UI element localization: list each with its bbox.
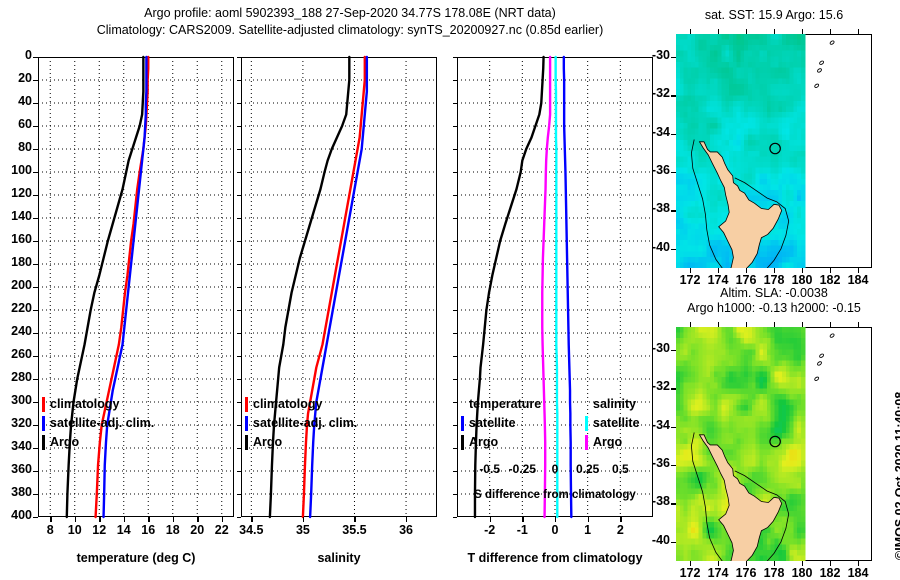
map-x-tick: [858, 268, 859, 273]
map-x-tick-label: 178: [749, 566, 799, 580]
y-tick-label: 300: [0, 393, 32, 407]
x-tick-label: 12: [69, 523, 129, 537]
map-x-tick: [830, 268, 831, 273]
map-x-tick: [690, 268, 691, 273]
x-tick-label: 8: [20, 523, 80, 537]
map-x-tick-label: 180: [777, 273, 827, 287]
map-x-tick-label: 174: [693, 273, 743, 287]
x-tick-label: 36: [376, 523, 436, 537]
salinity-profile-lines: [241, 57, 437, 517]
offshore-islet: [817, 361, 822, 366]
map-x-tick-label: 182: [805, 566, 855, 580]
y-tick-label: 320: [0, 416, 32, 430]
x-tick-label: -1: [492, 523, 552, 537]
x-tick: [173, 517, 174, 522]
series-temperature-satellite: [564, 57, 572, 517]
map-x-tick-label: 182: [805, 273, 855, 287]
x-tick-label: 10: [45, 523, 105, 537]
map-x-tick-label: 176: [721, 273, 771, 287]
map-x-tick: [802, 561, 803, 566]
x-tick: [124, 517, 125, 522]
y-tick-label: 140: [0, 209, 32, 223]
offshore-islet: [829, 40, 834, 45]
series-satellite-adj-clim-: [310, 57, 367, 517]
altim-sla-label: Altim. SLA: -0.0038: [676, 286, 872, 300]
y-tick-label: 280: [0, 370, 32, 384]
page-title-line2: Climatology: CARS2009. Satellite-adjuste…: [0, 23, 700, 37]
x-tick: [50, 517, 51, 522]
sst-map-title: sat. SST: 15.9 Argo: 15.6: [676, 8, 872, 22]
offshore-islet: [819, 353, 824, 358]
map-x-tick: [774, 561, 775, 566]
x-tick: [99, 517, 100, 522]
y-tick-label: 260: [0, 347, 32, 361]
imos-credit: ©IMOS 02-Oct-2020 11:40:08: [893, 392, 900, 560]
y-tick-label: 360: [0, 462, 32, 476]
x-tick-label: -2: [460, 523, 520, 537]
series-salinity-argo: [542, 57, 550, 517]
map-x-tick-label: 178: [749, 273, 799, 287]
y-tick-label: 120: [0, 186, 32, 200]
x-tick: [490, 517, 491, 522]
y-tick-label: 160: [0, 232, 32, 246]
x-tick-label: 34.5: [221, 523, 281, 537]
sla-map-field: [676, 327, 872, 561]
x-tick-label: 14: [94, 523, 154, 537]
map-x-tick-label: 180: [777, 566, 827, 580]
offshore-islet: [814, 376, 819, 381]
map-x-tick-label: 184: [833, 566, 883, 580]
sla-map-title: Argo h1000: -0.13 h2000: -0.15: [676, 301, 872, 315]
map-x-tick-label: 172: [665, 566, 715, 580]
y-tick-label: 60: [0, 117, 32, 131]
y-tick: [453, 517, 457, 518]
map-x-tick: [802, 268, 803, 273]
map-x-tick-label: 176: [721, 566, 771, 580]
x-tick: [251, 517, 252, 522]
x-tick-label: 18: [143, 523, 203, 537]
temperature-axis-label: temperature (deg C): [38, 551, 234, 565]
x-tick: [354, 517, 355, 522]
y-tick-label: 80: [0, 140, 32, 154]
x-tick: [588, 517, 589, 522]
x-tick: [620, 517, 621, 522]
salinity-axis-label: salinity: [241, 551, 437, 565]
series-salinity-satellite: [556, 57, 558, 517]
x-tick: [522, 517, 523, 522]
y-tick-label: 100: [0, 163, 32, 177]
offshore-islet: [814, 83, 819, 88]
map-x-tick: [718, 561, 719, 566]
y-tick: [33, 517, 38, 518]
y-tick-label: 40: [0, 94, 32, 108]
x-tick: [406, 517, 407, 522]
x-tick: [148, 517, 149, 522]
y-tick: [237, 517, 241, 518]
map-x-tick-label: 184: [833, 273, 883, 287]
map-x-tick: [746, 561, 747, 566]
x-tick: [75, 517, 76, 522]
sst-map-field: [676, 34, 872, 268]
y-tick-label: 380: [0, 485, 32, 499]
offshore-islet: [817, 68, 822, 73]
x-tick-label: 20: [167, 523, 227, 537]
x-tick: [555, 517, 556, 522]
x-tick: [222, 517, 223, 522]
x-tick-label: 35: [273, 523, 333, 537]
map-x-tick: [830, 561, 831, 566]
map-x-tick: [718, 268, 719, 273]
y-tick-label: 200: [0, 278, 32, 292]
y-tick-label: 20: [0, 71, 32, 85]
offshore-islet: [829, 333, 834, 338]
map-x-tick: [746, 268, 747, 273]
x-tick-label: 16: [118, 523, 178, 537]
map-x-tick-label: 174: [693, 566, 743, 580]
y-tick-label: 0: [0, 48, 32, 62]
y-tick-label: 240: [0, 324, 32, 338]
map-x-tick: [858, 561, 859, 566]
y-tick-label: 400: [0, 508, 32, 522]
temperature-profile-lines: [38, 57, 234, 517]
s-difference-axis-label: S difference from climatology: [457, 489, 653, 501]
map-y-tick-label: -40: [636, 533, 670, 547]
x-tick-label: 2: [590, 523, 650, 537]
y-tick-label: 220: [0, 301, 32, 315]
y-tick-label: 180: [0, 255, 32, 269]
x-tick-label: 35.5: [324, 523, 384, 537]
x-tick-label: 0: [525, 523, 585, 537]
x-tick-label: 1: [558, 523, 618, 537]
sla-field-canvas: [676, 327, 872, 561]
difference-profile-lines: [457, 57, 653, 517]
t-difference-axis-label: T difference from climatology: [457, 551, 653, 565]
sst-field-canvas: [676, 34, 872, 268]
y-tick-label: 340: [0, 439, 32, 453]
x-tick-label: 22: [192, 523, 252, 537]
x-tick: [197, 517, 198, 522]
offshore-islet: [819, 60, 824, 65]
map-x-tick: [690, 561, 691, 566]
page-title-line1: Argo profile: aoml 5902393_188 27-Sep-20…: [0, 6, 700, 20]
map-x-tick-label: 172: [665, 273, 715, 287]
map-x-tick: [774, 268, 775, 273]
